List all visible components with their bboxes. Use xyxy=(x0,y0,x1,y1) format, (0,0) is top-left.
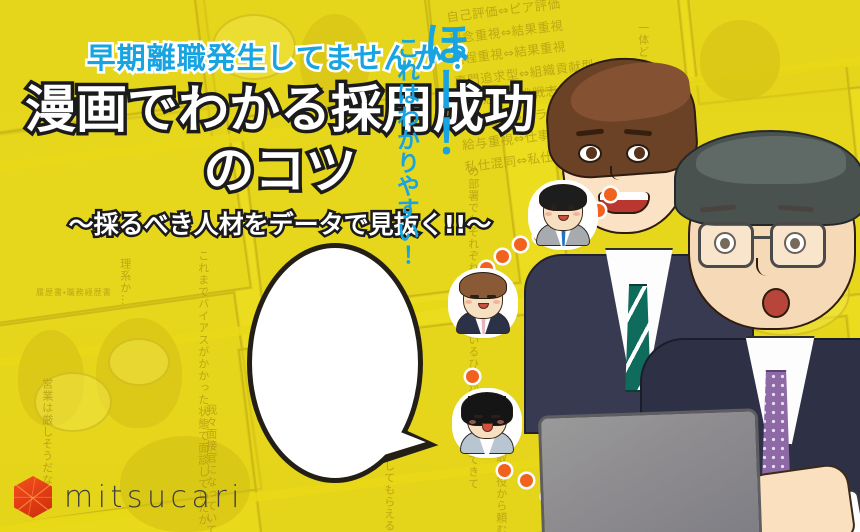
avatar-eye xyxy=(568,204,574,211)
avatar-hair xyxy=(459,272,507,299)
avatar-cheek xyxy=(545,212,552,216)
young-man-avatar xyxy=(532,184,594,246)
young-woman-avatar xyxy=(456,392,518,454)
manga-recruiting-banner: 自己評価⇔ピア評価 理念重視⇔結果重視 過程重視⇔結果重視 専門追求型⇔組織貢献… xyxy=(0,0,860,532)
avatar-eye xyxy=(487,295,496,298)
hexagon-cube-icon xyxy=(14,476,52,518)
brand-logo[interactable]: mitsucari xyxy=(14,476,244,518)
avatar-cheek xyxy=(465,300,472,304)
avatar-eye xyxy=(470,295,479,298)
speech-bubble-line: これはわかりやすい！ xyxy=(393,36,416,266)
avatar-eye xyxy=(491,415,500,418)
avatar-hair xyxy=(539,184,587,211)
avatar-cheek xyxy=(573,212,580,216)
avatar-cheek xyxy=(493,300,500,304)
laptop xyxy=(538,408,762,532)
logo-wordmark: mitsucari xyxy=(64,480,244,515)
avatar-eye xyxy=(474,415,483,418)
speech-bubble-exclamation: ほー！ xyxy=(418,20,463,158)
avatar-cheek xyxy=(497,420,504,424)
avatar-eye xyxy=(551,204,557,211)
middle-aged-man-avatar xyxy=(452,272,514,334)
avatar-cheek xyxy=(469,420,476,424)
